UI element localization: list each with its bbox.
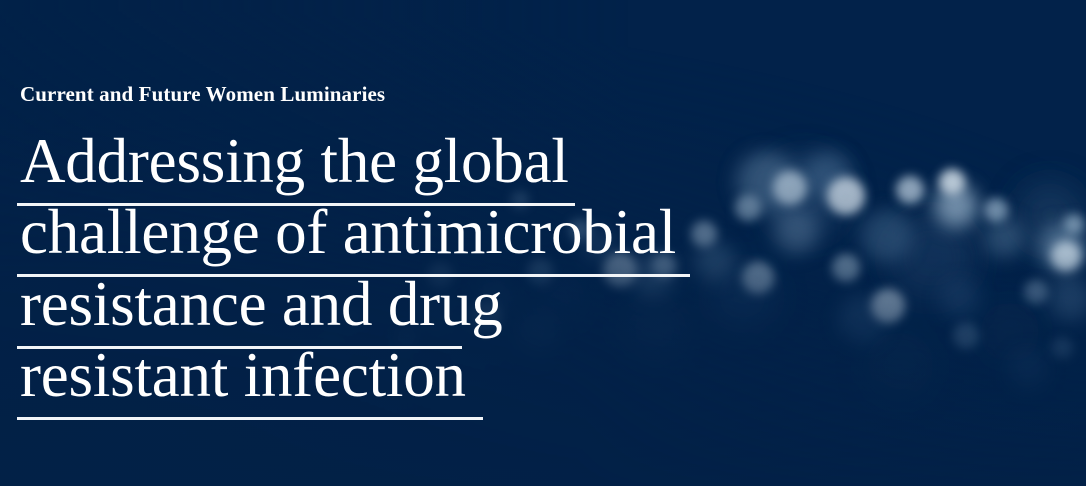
headline-line-text: resistance and drug (20, 273, 503, 336)
hero-content: Current and Future Women Luminaries Addr… (17, 0, 1086, 486)
headline-line: resistant infection (17, 353, 1017, 425)
headline-line-text: Addressing the global (20, 130, 569, 193)
headline-line-text: resistant infection (20, 344, 466, 407)
headline-line-text: challenge of antimicrobial (20, 201, 676, 264)
headline-underline-rule (17, 417, 483, 420)
eyebrow-label: Current and Future Women Luminaries (20, 84, 385, 105)
page-title: Addressing the global challenge of antim… (17, 138, 1017, 424)
hero-banner: Current and Future Women Luminaries Addr… (0, 0, 1086, 486)
